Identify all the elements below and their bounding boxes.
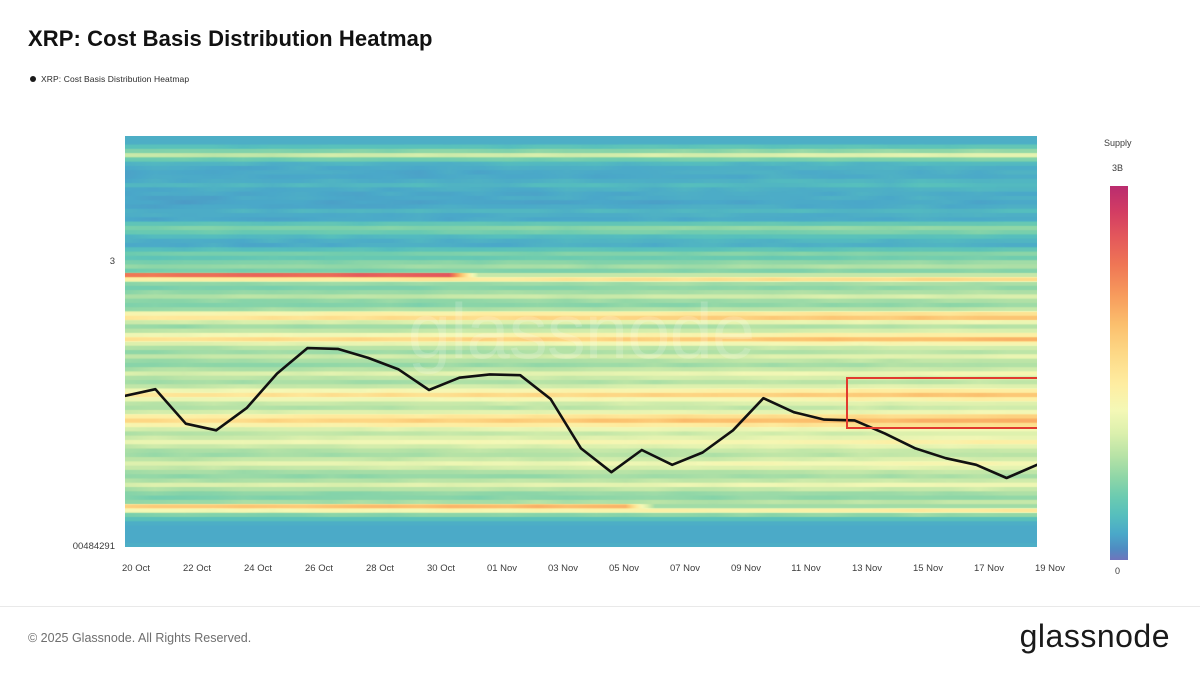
x-axis-tick-10: 09 Nov (731, 563, 761, 574)
chart-legend: XRP: Cost Basis Distribution Heatmap (30, 74, 189, 84)
colorbar-gradient (1110, 186, 1128, 560)
glassnode-logo: glassnode (1020, 618, 1170, 655)
heatmap-plot-area[interactable]: glassnode (125, 136, 1037, 547)
x-axis-tick-3: 26 Oct (305, 563, 333, 574)
y-axis-tick-upper: 3 (60, 256, 115, 267)
x-axis-tick-8: 05 Nov (609, 563, 639, 574)
colorbar-title: Supply (1104, 138, 1132, 148)
x-axis-tick-1: 22 Oct (183, 563, 211, 574)
dot-marker-icon (30, 76, 36, 82)
x-axis-tick-15: 19 Nov (1035, 563, 1065, 574)
x-axis-tick-7: 03 Nov (548, 563, 578, 574)
y-axis-tick-lower: 00484291 (36, 541, 115, 552)
footer-copyright: © 2025 Glassnode. All Rights Reserved. (28, 631, 251, 645)
x-axis-tick-11: 11 Nov (791, 563, 820, 574)
colorbar-max-label: 3B (1112, 163, 1123, 173)
x-axis-tick-12: 13 Nov (852, 563, 882, 574)
x-axis-tick-5: 30 Oct (427, 563, 455, 574)
x-axis-tick-0: 20 Oct (122, 563, 150, 574)
x-axis-tick-13: 15 Nov (913, 563, 943, 574)
colorbar-min-label: 0 (1115, 566, 1120, 576)
x-axis-tick-14: 17 Nov (974, 563, 1004, 574)
heatmap-canvas[interactable] (125, 136, 1037, 547)
x-axis-tick-4: 28 Oct (366, 563, 394, 574)
page-title: XRP: Cost Basis Distribution Heatmap (28, 26, 433, 52)
footer-divider (0, 606, 1200, 607)
x-axis-tick-6: 01 Nov (487, 563, 517, 574)
x-axis-tick-2: 24 Oct (244, 563, 272, 574)
x-axis-tick-9: 07 Nov (670, 563, 700, 574)
chart-legend-label: XRP: Cost Basis Distribution Heatmap (41, 74, 189, 84)
